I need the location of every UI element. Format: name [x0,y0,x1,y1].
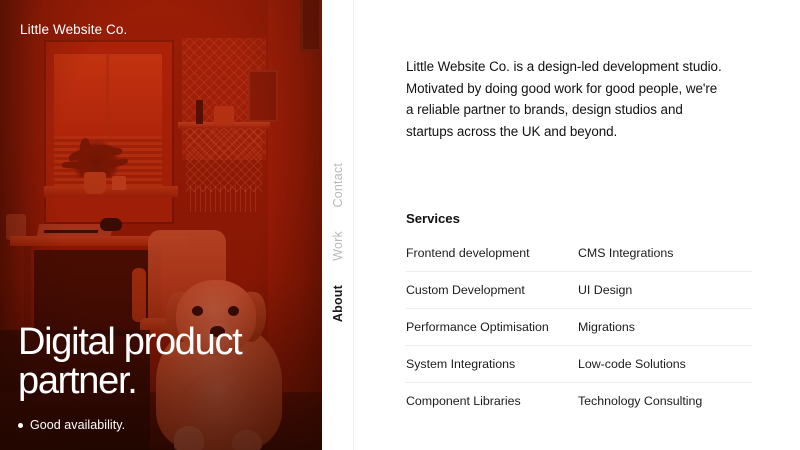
table-row: Component Libraries Technology Consultin… [406,382,752,419]
nav-item-work[interactable]: Work [331,231,345,261]
service-name: Custom Development [406,271,578,308]
service-name: Migrations [578,308,752,345]
availability-badge: Good availability. [18,418,308,432]
services-heading: Services [406,211,750,226]
table-row: Custom Development UI Design [406,271,752,308]
service-name: Component Libraries [406,382,578,419]
services-table: Frontend development CMS Integrations Cu… [406,246,752,419]
table-row: System Integrations Low-code Solutions [406,345,752,382]
vertical-nav: Contact Work About [322,0,354,450]
service-name: Performance Optimisation [406,308,578,345]
hero-copy: Digital product partner. Good availabili… [18,323,308,432]
dot-icon [18,423,23,428]
page-root: Little Website Co. Digital product partn… [0,0,800,450]
service-name: UI Design [578,271,752,308]
service-name: Technology Consulting [578,382,752,419]
nav-item-contact[interactable]: Contact [331,163,345,207]
availability-label: Good availability. [30,418,125,432]
table-row: Frontend development CMS Integrations [406,246,752,272]
table-row: Performance Optimisation Migrations [406,308,752,345]
hero-panel: Little Website Co. Digital product partn… [0,0,322,450]
page-title: Digital product partner. [18,323,308,402]
nav-item-about[interactable]: About [331,285,345,322]
logo[interactable]: Little Website Co. [20,22,127,37]
intro-paragraph: Little Website Co. is a design-led devel… [406,56,728,143]
service-name: Low-code Solutions [578,345,752,382]
content-panel: Little Website Co. is a design-led devel… [354,0,800,450]
service-name: System Integrations [406,345,578,382]
service-name: CMS Integrations [578,246,752,272]
service-name: Frontend development [406,246,578,272]
